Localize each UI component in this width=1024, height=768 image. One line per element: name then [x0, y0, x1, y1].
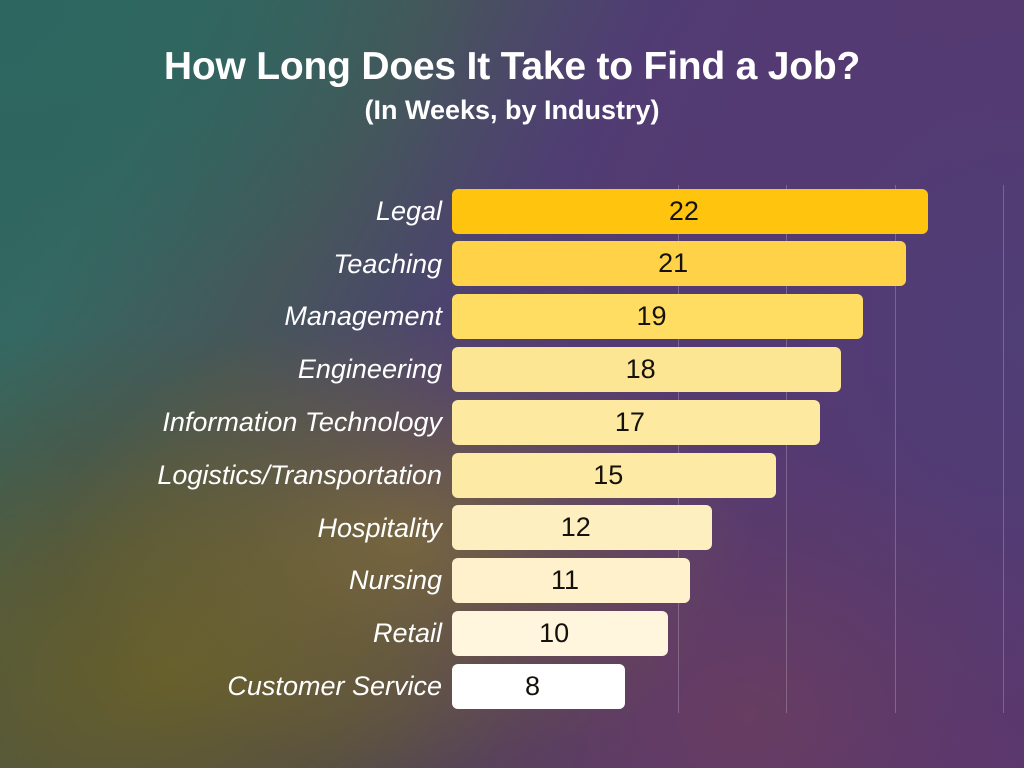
bar[interactable]: 22 [452, 189, 928, 234]
bar[interactable]: 21 [452, 241, 906, 286]
bar-row[interactable]: Retail10 [0, 607, 1024, 660]
category-label: Management [0, 303, 452, 330]
bar-value-label: 18 [626, 356, 656, 383]
bar[interactable]: 19 [452, 294, 863, 339]
bar-value-label: 8 [525, 673, 540, 700]
bar-row[interactable]: Teaching21 [0, 238, 1024, 291]
bar-row[interactable]: Customer Service8 [0, 660, 1024, 713]
bar[interactable]: 18 [452, 347, 841, 392]
category-label: Hospitality [0, 515, 452, 542]
bar-row[interactable]: Hospitality12 [0, 502, 1024, 555]
category-label: Teaching [0, 251, 452, 278]
title-block: How Long Does It Take to Find a Job? (In… [0, 46, 1024, 126]
category-label: Customer Service [0, 673, 452, 700]
bar-track: 12 [452, 502, 1024, 555]
bar-value-label: 22 [669, 198, 699, 225]
bar-value-label: 10 [539, 620, 569, 647]
bar-row[interactable]: Information Technology17 [0, 396, 1024, 449]
infographic-canvas: How Long Does It Take to Find a Job? (In… [0, 0, 1024, 768]
bar-track: 22 [452, 185, 1024, 238]
category-label: Nursing [0, 567, 452, 594]
bar-track: 10 [452, 607, 1024, 660]
bar-row[interactable]: Legal22 [0, 185, 1024, 238]
bar[interactable]: 12 [452, 505, 712, 550]
chart-subtitle: (In Weeks, by Industry) [0, 96, 1024, 126]
category-label: Information Technology [0, 409, 452, 436]
bar-track: 8 [452, 660, 1024, 713]
bar-value-label: 12 [561, 514, 591, 541]
category-label: Retail [0, 620, 452, 647]
bar-track: 15 [452, 449, 1024, 502]
bar-value-label: 15 [593, 462, 623, 489]
bar-row[interactable]: Logistics/Transportation15 [0, 449, 1024, 502]
bar-track: 18 [452, 343, 1024, 396]
bar-value-label: 17 [615, 409, 645, 436]
bar-track: 11 [452, 555, 1024, 608]
category-label: Engineering [0, 356, 452, 383]
bar[interactable]: 10 [452, 611, 668, 656]
bar[interactable]: 15 [452, 453, 776, 498]
bar[interactable]: 8 [452, 664, 625, 709]
bar[interactable]: 11 [452, 558, 690, 603]
chart-title: How Long Does It Take to Find a Job? [0, 46, 1024, 88]
bar-value-label: 11 [551, 567, 579, 594]
category-label: Legal [0, 198, 452, 225]
bar-track: 21 [452, 238, 1024, 291]
bar-value-label: 19 [636, 303, 666, 330]
bar-rows: Legal22Teaching21Management19Engineering… [0, 185, 1024, 713]
bar-chart: Legal22Teaching21Management19Engineering… [0, 185, 1024, 713]
bar[interactable]: 17 [452, 400, 820, 445]
bar-track: 17 [452, 396, 1024, 449]
bar-row[interactable]: Nursing11 [0, 555, 1024, 608]
bar-row[interactable]: Engineering18 [0, 343, 1024, 396]
bar-row[interactable]: Management19 [0, 291, 1024, 344]
bar-track: 19 [452, 291, 1024, 344]
bar-value-label: 21 [658, 250, 688, 277]
category-label: Logistics/Transportation [0, 462, 452, 489]
